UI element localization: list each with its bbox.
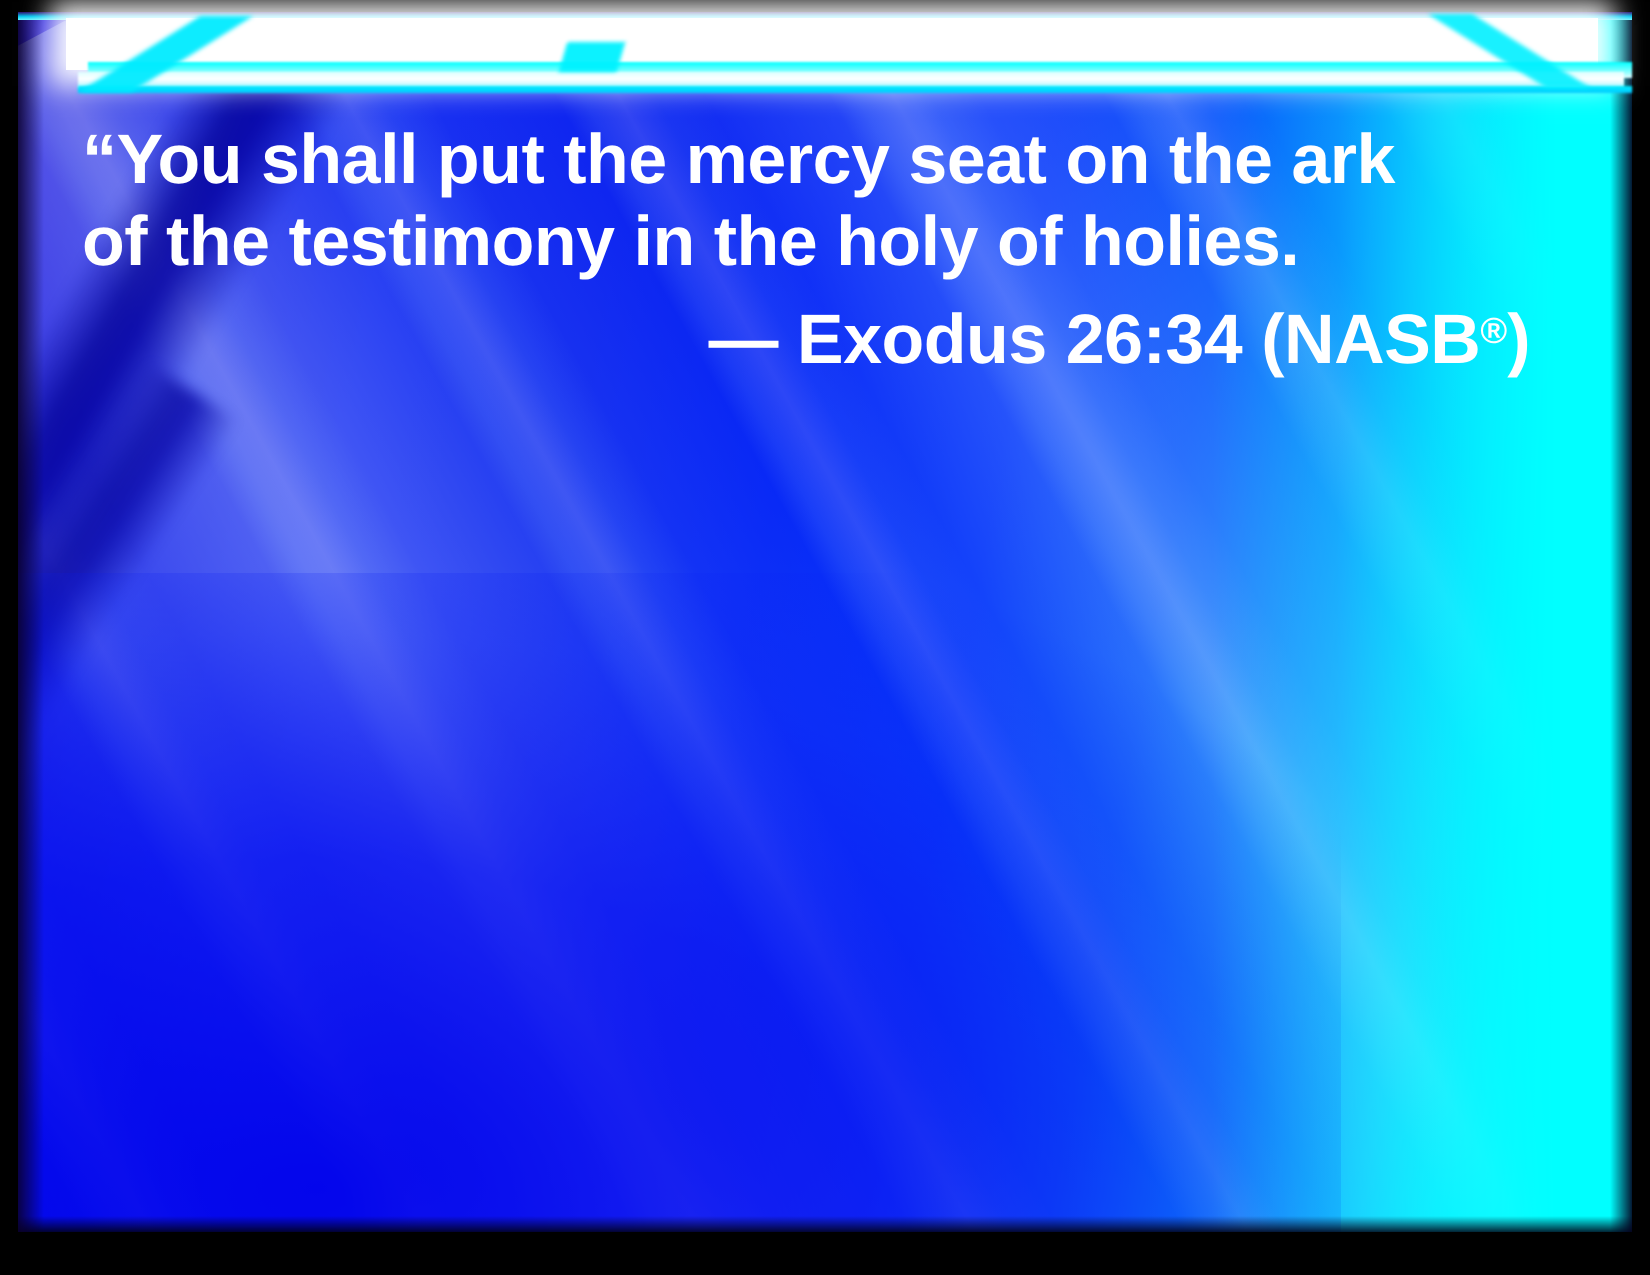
citation-translation-close: ): [1507, 300, 1530, 378]
citation-spacer-1: [778, 300, 797, 378]
verse-slide: “You shall put the mercy seat on the ark…: [0, 0, 1650, 1275]
bottom-black-band: [0, 1232, 1650, 1275]
citation-book: Exodus: [797, 300, 1047, 378]
verse-citation: — Exodus 26:34 (NASB®): [82, 290, 1542, 380]
citation-spacer-2: [1047, 300, 1066, 378]
verse-text-block: “You shall put the mercy seat on the ark…: [82, 118, 1542, 380]
citation-reference: 26:34: [1066, 300, 1243, 378]
verse-line-2: of the testimony in the holy of holies.: [82, 200, 1542, 282]
citation-spacer-3: [1242, 300, 1261, 378]
citation-dash: —: [708, 300, 778, 378]
citation-translation-open: (NASB: [1261, 300, 1480, 378]
verse-line-1: “You shall put the mercy seat on the ark: [82, 118, 1542, 200]
registered-trademark-icon: ®: [1480, 310, 1507, 351]
